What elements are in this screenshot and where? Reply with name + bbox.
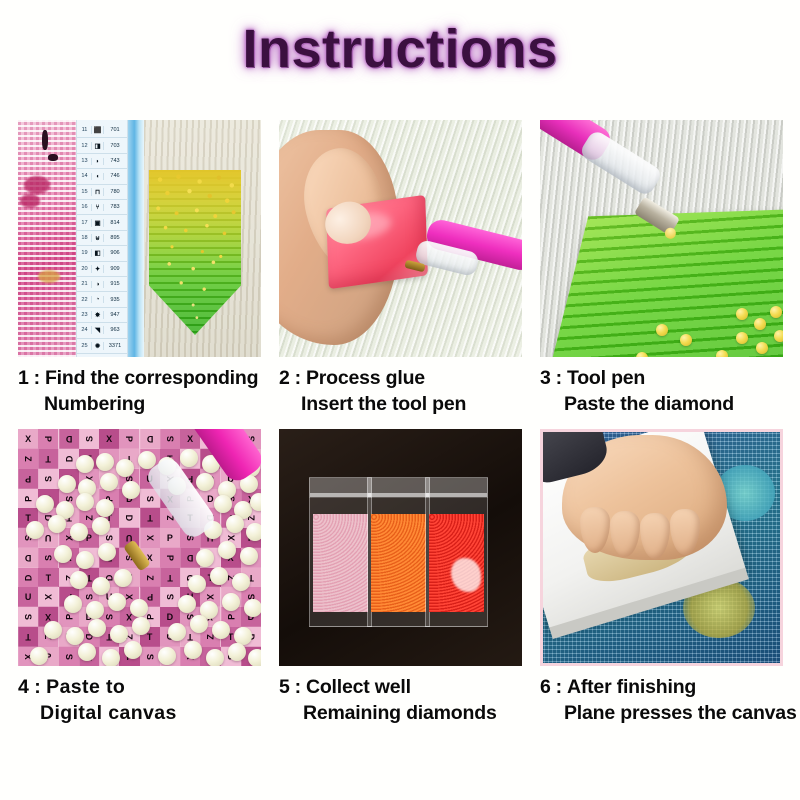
- step-1-photo: 11⬛70112◨70313◗74314◖74615⊓78016⑂78317▣8…: [18, 120, 261, 357]
- legend-number: 18: [78, 235, 91, 241]
- step-6-caption: 6:After finishing Plane presses the canv…: [540, 675, 783, 726]
- legend-symbol: ◧: [91, 249, 104, 257]
- diamond-bead: [214, 495, 232, 513]
- step-1-caption: 1:Find the corresponding Numbering: [18, 366, 261, 417]
- diamond-bead: [246, 523, 261, 541]
- diamond-bead: [70, 523, 88, 541]
- legend-color-code: 701: [104, 127, 126, 133]
- step-4-separator: :: [34, 676, 41, 698]
- diamond-bead: [26, 521, 44, 539]
- step-1-line1: Find the corresponding: [45, 367, 258, 389]
- diamond-bead: [92, 577, 110, 595]
- step-2-caption: 2:Process glue Insert the tool pen: [279, 366, 522, 417]
- diamond-bead: [44, 621, 62, 639]
- legend-number: 20: [78, 266, 91, 272]
- steps-row-bottom: XPDSXPDSXPDSZTDTZTDTZTDTPSUXPSUXPSUXPDSX…: [18, 429, 782, 726]
- diamond-bead: [212, 621, 230, 639]
- diamond-bead: [248, 649, 261, 666]
- legend-symbol: ⊓: [91, 188, 104, 196]
- diamond-bead: [122, 481, 140, 499]
- legend-number: 16: [78, 204, 91, 210]
- diamond-bead: [178, 595, 196, 613]
- step-5-line2: Remaining diamonds: [279, 701, 522, 727]
- step-card-6: 6:After finishing Plane presses the canv…: [540, 429, 783, 726]
- legend-row: 18⊎895: [77, 231, 127, 246]
- legend-symbol: ✦: [91, 265, 104, 273]
- legend-color-code: 743: [104, 158, 126, 164]
- legend-color-code: 783: [104, 204, 126, 210]
- legend-row: 12◨703: [77, 138, 127, 153]
- diamond-bead: [226, 515, 244, 533]
- step-4-line2: Digital canvas: [18, 701, 261, 727]
- legend-row: 11⬛701: [77, 123, 127, 138]
- diamond-bead: [96, 453, 114, 471]
- diamond-bead: [36, 495, 54, 513]
- diamond-bead: [218, 541, 236, 559]
- legend-row: 15⊓780: [77, 185, 127, 200]
- step-4-photo: XPDSXPDSXPDSZTDTZTDTZTDTPSUXPSUXPSUXPDSX…: [18, 429, 261, 666]
- legend-number: 15: [78, 189, 91, 195]
- legend-row: 16⑂783: [77, 200, 127, 215]
- diamond-bead: [132, 617, 150, 635]
- step-4-number: 4: [18, 676, 29, 698]
- legend-symbol: ▣: [91, 219, 104, 227]
- diamond-bag-pink: [309, 477, 372, 627]
- step-3-caption: 3:Tool pen Paste the diamond: [540, 366, 783, 417]
- legend-row: 19◧906: [77, 246, 127, 261]
- legend-color-code: 947: [104, 312, 126, 318]
- step-5-number: 5: [279, 676, 290, 698]
- diamond-bead: [168, 623, 186, 641]
- legend-color-code: 963: [104, 327, 126, 333]
- legend-number: 12: [78, 143, 91, 149]
- legend-color-code: 895: [104, 235, 126, 241]
- diamond-bead: [54, 545, 72, 563]
- legend-number: 19: [78, 250, 91, 256]
- diamond-bead: [66, 627, 84, 645]
- step-card-5: 5:Collect well Remaining diamonds: [279, 429, 522, 726]
- diamond-bead: [76, 551, 94, 569]
- step-6-number: 6: [540, 676, 551, 698]
- diamond-bead: [98, 543, 116, 561]
- legend-symbol: ✹: [91, 342, 104, 350]
- legend-symbol: ◑: [91, 281, 104, 288]
- step-card-4: XPDSXPDSXPDSZTDTZTDTZTDTPSUXPSUXPSUXPDSX…: [18, 429, 261, 726]
- step-6-line2: Plane presses the canvas: [540, 701, 783, 727]
- step-card-2: 2:Process glue Insert the tool pen: [279, 120, 522, 417]
- diamond-bead: [184, 641, 202, 659]
- legend-color-code: 909: [104, 266, 126, 272]
- diamond-bead: [86, 601, 104, 619]
- diamond-bead: [228, 643, 246, 661]
- yellow-diamonds: [540, 120, 783, 357]
- fingers: [580, 507, 710, 555]
- legend-number: 23: [78, 312, 91, 318]
- legend-symbol: ✸: [91, 311, 104, 319]
- legend-symbol: ◖: [91, 173, 104, 180]
- step-6-line1: After finishing: [567, 676, 696, 698]
- legend-symbol: ⬛: [91, 126, 104, 134]
- step-3-line2: Paste the diamond: [540, 392, 783, 418]
- diamond-bead: [96, 499, 114, 517]
- legend-row: 17▣814: [77, 215, 127, 230]
- legend-row: 13◗743: [77, 154, 127, 169]
- legend-number: 14: [78, 173, 91, 179]
- legend-color-code: 780: [104, 189, 126, 195]
- step-3-separator: :: [556, 367, 562, 389]
- diamond-bead: [222, 593, 240, 611]
- step-5-line1: Collect well: [306, 676, 411, 698]
- step-5-separator: :: [295, 676, 301, 698]
- legend-row: 23✸947: [77, 308, 127, 323]
- step-3-photo: [540, 120, 783, 357]
- step-4-caption: 4:Paste to Digital canvas: [18, 675, 261, 726]
- diamond-bead: [48, 515, 66, 533]
- diamond-bead: [76, 493, 94, 511]
- step-2-separator: :: [295, 367, 301, 389]
- diamond-bead: [100, 473, 118, 491]
- legend-row: 24◥963: [77, 323, 127, 338]
- legend-symbol: ⑂: [91, 204, 104, 211]
- legend-number: 25: [78, 343, 91, 349]
- step-2-photo: [279, 120, 522, 357]
- diamond-bead: [130, 599, 148, 617]
- step-5-photo: [279, 429, 522, 666]
- step-2-number: 2: [279, 367, 290, 389]
- legend-row: 20✦909: [77, 262, 127, 277]
- diamond-bead: [180, 449, 198, 467]
- legend-row: 25✹3371: [77, 339, 127, 354]
- diamond-bead: [158, 647, 176, 665]
- legend-number: 22: [78, 297, 91, 303]
- diamond-bead: [210, 567, 228, 585]
- step-card-1: 11⬛70112◨70313◗74314◖74615⊓78016⑂78317▣8…: [18, 120, 261, 417]
- diamond-bead: [188, 575, 206, 593]
- legend-color-code: 915: [104, 281, 126, 287]
- diamond-bead: [30, 647, 48, 665]
- diamond-bead: [196, 549, 214, 567]
- legend-color-code: 906: [104, 250, 126, 256]
- diamond-bead: [78, 643, 96, 661]
- legend-symbol: ⊎: [91, 234, 104, 242]
- diamond-bead: [244, 599, 261, 617]
- diamond-bead: [206, 649, 224, 666]
- legend-number: 24: [78, 327, 91, 333]
- legend-symbol: ◗: [91, 158, 104, 165]
- instruction-steps-grid: 11⬛70112◨70313◗74314◖74615⊓78016⑂78317▣8…: [18, 120, 782, 727]
- legend-number: 13: [78, 158, 91, 164]
- color-code-legend: 11⬛70112◨70313◗74314◖74615⊓78016⑂78317▣8…: [76, 120, 128, 357]
- step-2-line2: Insert the tool pen: [279, 392, 522, 418]
- diamond-bead: [58, 475, 76, 493]
- step-1-separator: :: [34, 367, 40, 389]
- printed-canvas-image: [18, 120, 76, 357]
- diamond-bag-orange: [367, 477, 430, 627]
- page-title: Instructions: [242, 18, 557, 80]
- diamond-bag-red: [425, 477, 488, 627]
- diamond-bead: [240, 547, 258, 565]
- legend-symbol: ◥: [91, 326, 104, 334]
- legend-color-code: 935: [104, 297, 126, 303]
- steps-row-top: 11⬛70112◨70313◗74314◖74615⊓78016⑂78317▣8…: [18, 120, 782, 417]
- diamond-bead: [92, 517, 110, 535]
- step-5-caption: 5:Collect well Remaining diamonds: [279, 675, 522, 726]
- step-4-line1: Paste to: [46, 676, 125, 698]
- legend-color-code: 746: [104, 173, 126, 179]
- diamond-bead: [190, 615, 208, 633]
- page-header: Instructions: [0, 18, 800, 80]
- legend-color-code: 703: [104, 143, 126, 149]
- legend-number: 11: [78, 127, 91, 133]
- legend-row: 22◔935: [77, 292, 127, 307]
- legend-row: 14◖746: [77, 169, 127, 184]
- step-6-separator: :: [556, 676, 562, 698]
- step-3-number: 3: [540, 367, 551, 389]
- legend-number: 21: [78, 281, 91, 287]
- step-6-photo: [540, 429, 783, 666]
- diamond-bead: [108, 593, 126, 611]
- legend-symbol: ◨: [91, 142, 104, 150]
- diamond-bead: [70, 571, 88, 589]
- step-3-line1: Tool pen: [567, 367, 645, 389]
- legend-color-code: 814: [104, 220, 126, 226]
- legend-symbol: ◔: [91, 296, 104, 303]
- step-card-3: 3:Tool pen Paste the diamond: [540, 120, 783, 417]
- diamond-bead: [102, 649, 120, 666]
- step-2-line1: Process glue: [306, 367, 425, 389]
- diamond-bead: [196, 473, 214, 491]
- diamond-bead: [88, 619, 106, 637]
- legend-number: 17: [78, 220, 91, 226]
- diamond-bead: [64, 595, 82, 613]
- legend-color-code: 3371: [104, 343, 126, 349]
- legend-row: 21◑915: [77, 277, 127, 292]
- diamond-bead: [124, 641, 142, 659]
- step-1-line2: Numbering: [18, 392, 261, 418]
- diamond-bead: [114, 569, 132, 587]
- diamond-bead: [116, 459, 134, 477]
- diamond-bead: [110, 625, 128, 643]
- diamond-bead: [76, 455, 94, 473]
- diamond-bead: [232, 573, 250, 591]
- canvas-blue-strip: [128, 120, 144, 357]
- step-1-number: 1: [18, 367, 29, 389]
